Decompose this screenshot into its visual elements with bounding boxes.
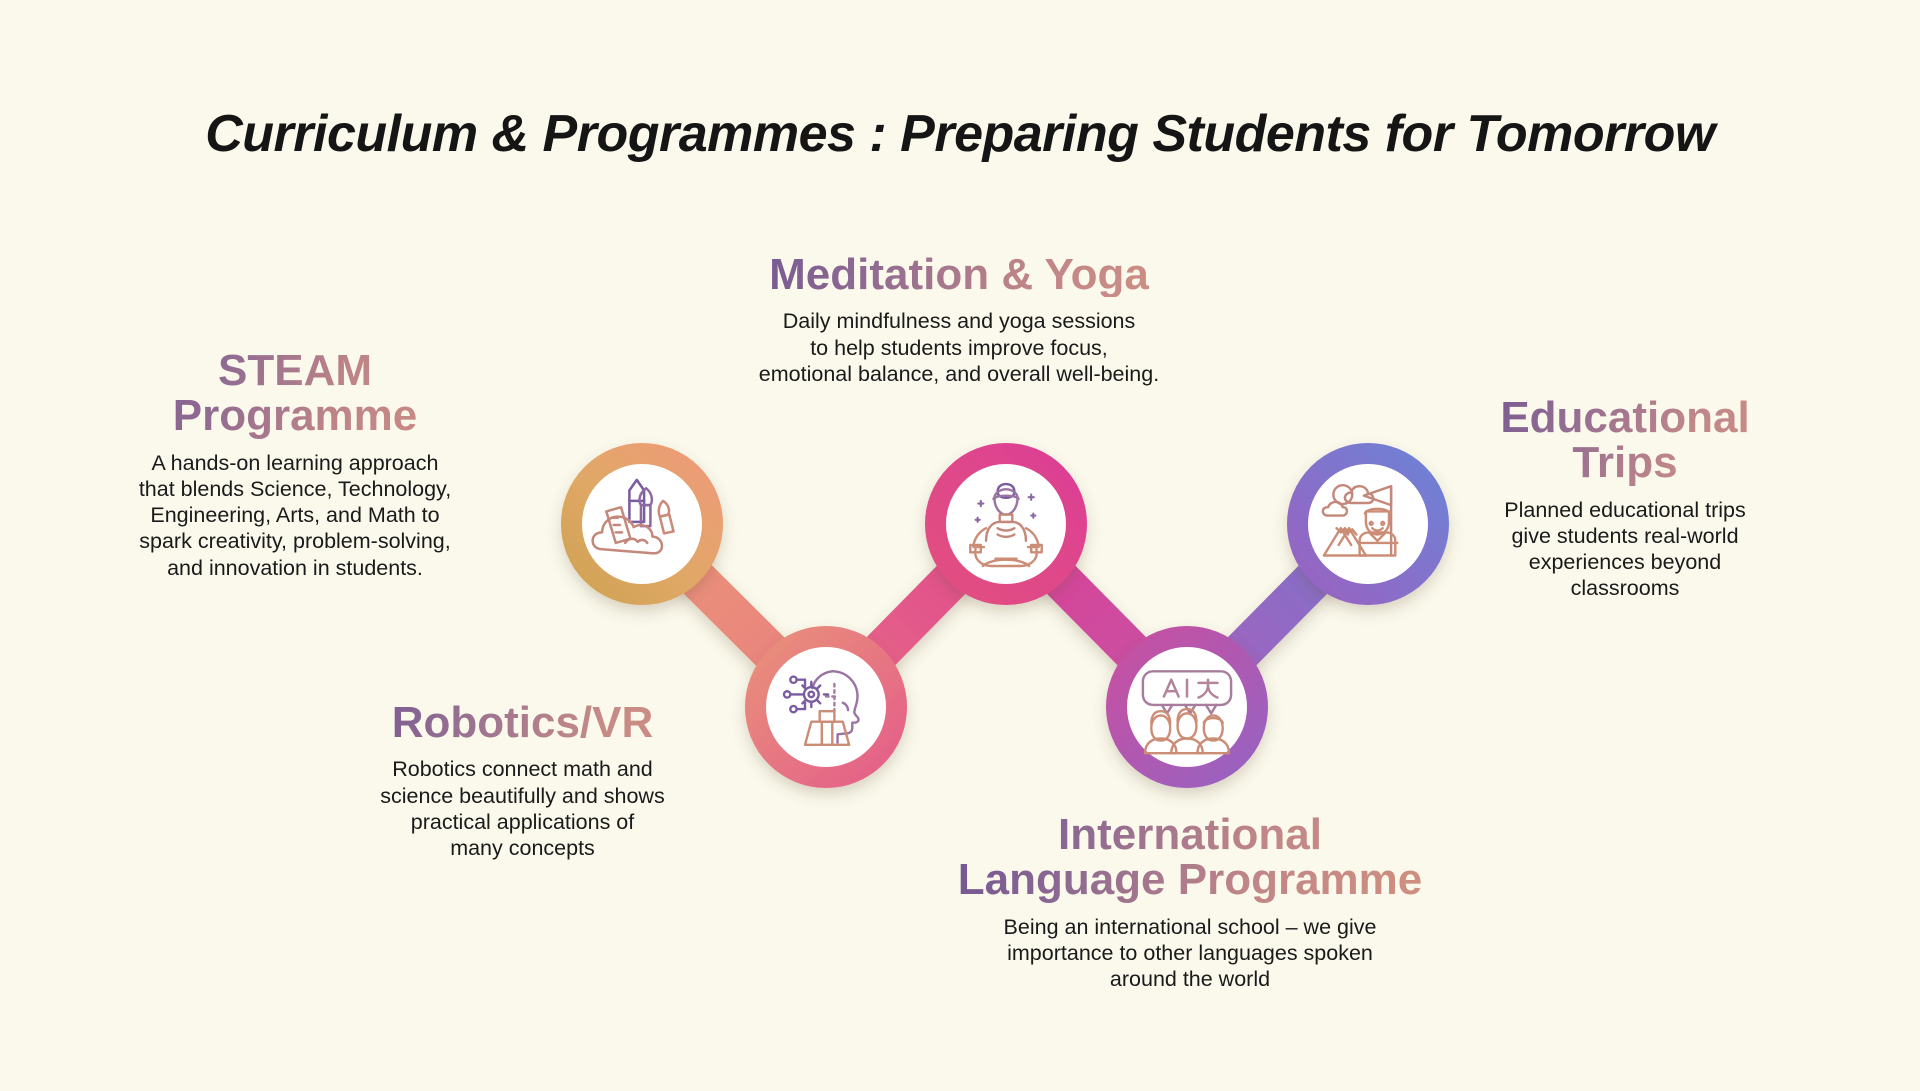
robotics-heading: Robotics/VR — [335, 700, 710, 745]
meditation-body: Daily mindfulness and yoga sessions to h… — [724, 308, 1194, 387]
trips-body: Planned educational trips give students … — [1455, 497, 1795, 602]
disc-robotics — [766, 647, 886, 767]
node-text-steam: STEAMProgramme A hands-on learning appro… — [120, 348, 470, 581]
node-text-robotics: Robotics/VR Robotics connect math and sc… — [335, 700, 710, 861]
infographic-canvas: Curriculum & Programmes : Preparing Stud… — [0, 0, 1920, 1091]
node-text-trips: EducationalTrips Planned educational tri… — [1455, 395, 1795, 602]
steam-body: A hands-on learning approach that blends… — [120, 450, 470, 581]
node-text-language: InternationalLanguage Programme Being an… — [930, 812, 1450, 992]
robotics-body: Robotics connect math and science beauti… — [335, 756, 710, 861]
language-heading: InternationalLanguage Programme — [930, 812, 1450, 903]
disc-trips — [1308, 464, 1428, 584]
steam-heading: STEAMProgramme — [120, 348, 470, 439]
meditation-heading: Meditation & Yoga — [724, 252, 1194, 297]
language-body: Being an international school – we give … — [930, 914, 1450, 993]
trips-heading: EducationalTrips — [1455, 395, 1795, 486]
node-text-meditation: Meditation & Yoga Daily mindfulness and … — [724, 252, 1194, 387]
